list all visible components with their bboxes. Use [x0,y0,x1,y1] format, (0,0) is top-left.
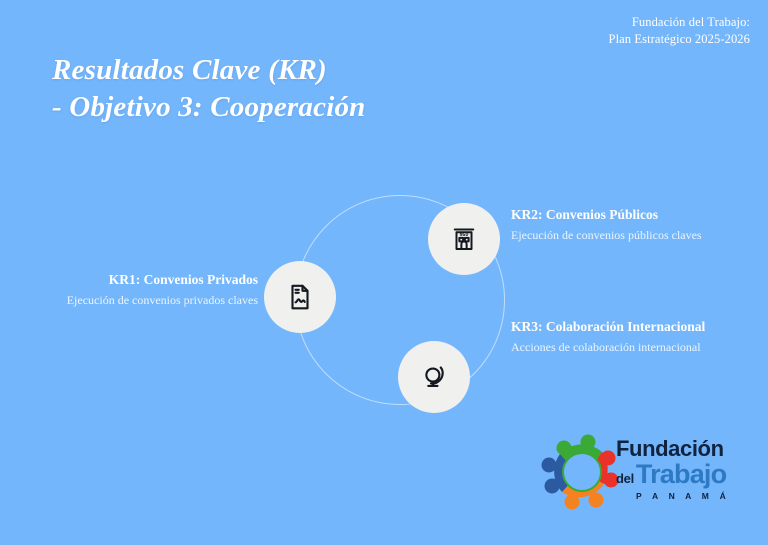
kr2-node-circle[interactable]: NGO [428,203,500,275]
kr1-title: KR1: Convenios Privados [67,272,258,289]
logo-country-label: P A N A M Á [616,491,744,501]
kr3-node-circle[interactable] [398,341,470,413]
document-signature-icon [285,282,315,312]
kr3-description: Acciones de colaboración internacional [511,340,705,356]
desk-globe-icon [419,362,449,392]
svg-text:NGO: NGO [460,232,469,238]
kr3-text-block: KR3: Colaboración Internacional Acciones… [511,319,705,355]
kr2-description: Ejecución de convenios públicos claves [511,228,702,244]
kr2-text-block: KR2: Convenios Públicos Ejecución de con… [511,207,702,243]
ngo-building-icon: NGO [449,224,479,254]
logo-people-ring-icon [538,432,624,510]
organization-logo: Fundación del Trabajo P A N A M Á [538,430,743,510]
logo-word-del: del [616,472,634,485]
kr3-title: KR3: Colaboración Internacional [511,319,705,336]
kr1-node-circle[interactable] [264,261,336,333]
kr1-text-block: KR1: Convenios Privados Ejecución de con… [67,272,258,308]
logo-line-fundacion: Fundación [616,438,744,460]
logo-word-trabajo: Trabajo [636,461,726,488]
kr1-description: Ejecución de convenios privados claves [67,293,258,309]
kr2-title: KR2: Convenios Públicos [511,207,702,224]
logo-wordmark: Fundación del Trabajo P A N A M Á [616,438,744,501]
slide-canvas: Fundación del Trabajo: Plan Estratégico … [0,0,768,545]
